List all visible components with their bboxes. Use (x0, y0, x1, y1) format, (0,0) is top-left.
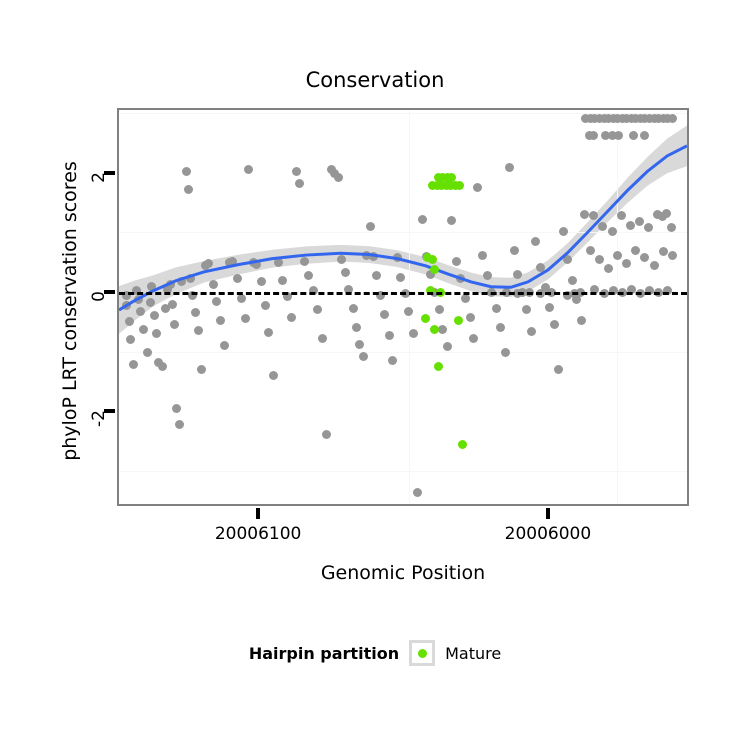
plot-panel: 20-22000610020006000 (117, 108, 689, 506)
y-axis-tick-label: 0 (89, 291, 109, 331)
x-axis-tick-label: 20006100 (188, 524, 328, 544)
legend-label-mature: Mature (445, 644, 501, 663)
y-axis-label: phyloP LRT conservation scores (59, 101, 81, 521)
legend-title: Hairpin partition (249, 644, 399, 663)
loess-line (119, 146, 687, 310)
loess-line-overlay (119, 110, 687, 504)
panel-content (119, 110, 687, 504)
x-axis-tick-label: 20006000 (478, 524, 618, 544)
legend-dot-icon (418, 649, 427, 658)
data-point-mature (428, 255, 437, 264)
data-point-mature (434, 362, 443, 371)
y-axis-tick-label: -2 (89, 410, 109, 450)
x-axis-tick (546, 508, 550, 519)
x-axis-label: Genomic Position (117, 562, 689, 584)
zero-reference-line (119, 292, 687, 295)
data-point-mature (458, 440, 467, 449)
conservation-scatter-figure: Conservation phyloP LRT conservation sco… (0, 0, 750, 750)
x-axis-tick (256, 508, 260, 519)
legend: Hairpin partition Mature (0, 640, 750, 666)
plot-title: Conservation (0, 68, 750, 92)
legend-key-mature[interactable] (409, 640, 435, 666)
data-point-mature (430, 325, 439, 334)
y-axis-tick-label: 2 (89, 172, 109, 212)
